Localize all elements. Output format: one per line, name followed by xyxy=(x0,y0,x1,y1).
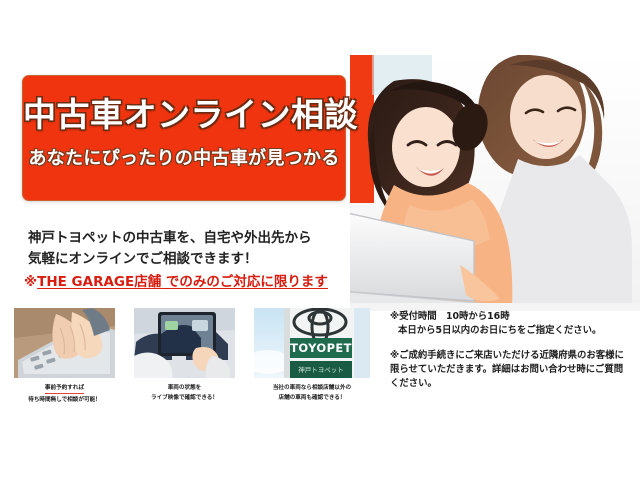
feature-caption-live-video: 車両の状態を ライブ映像で確認できる！ xyxy=(134,384,235,403)
promo-banner: 中古車オンライン相談 あなたにぴったりの中古車が見つかる xyxy=(22,75,346,201)
feature-caption-line2: ライブ映像で確認できる！ xyxy=(134,394,235,403)
promo-page: 中古車オンライン相談 あなたにぴったりの中古車が見つかる 神戸トヨペットの中古車… xyxy=(0,0,640,480)
notice-underlined-text: THE GARAGE店舗 xyxy=(37,274,161,290)
feature-item-reservation: 事前予約すれば 待ち時間無しで相談が可能！ xyxy=(14,308,115,404)
note-line-hours: ※受付時間 10時から16時 xyxy=(390,310,630,324)
feature-caption-line1: 事前予約すれば xyxy=(45,384,84,394)
feature-thumbnail-keyboard xyxy=(14,308,115,378)
feature-caption-line2: 店舗の車両も確認できる！ xyxy=(254,394,370,403)
feature-item-live-video: 車両の状態を ライブ映像で確認できる！ xyxy=(134,308,235,403)
feature-list: 事前予約すれば 待ち時間無しで相談が可能！ xyxy=(0,308,380,410)
note-line-date: 本日から5日以内のお日にちをご指定ください。 xyxy=(390,324,630,338)
notice-mark: ※ xyxy=(24,274,37,290)
feature-thumbnail-tablet xyxy=(134,308,235,378)
banner-subtitle: あなたにぴったりの中古車が見つかる xyxy=(23,144,345,170)
svg-text:神戸トヨペット: 神戸トヨペット xyxy=(298,365,344,374)
tablet-live-view-illustration xyxy=(134,308,235,378)
feature-caption-reservation: 事前予約すれば 待ち時間無しで相談が可能！ xyxy=(14,384,115,404)
lead-paragraph: 神戸トヨペットの中古車を、自宅や外出先から 気軽にオンラインでご相談できます！ xyxy=(28,228,348,270)
svg-text:TOYOPET: TOYOPET xyxy=(290,341,352,355)
toyopet-sign-illustration: TOYOPET 神戸トヨペット xyxy=(254,308,370,378)
notice-rest-text: でのみのご対応に限ります xyxy=(161,274,328,290)
notes-block: ※受付時間 10時から16時 本日から5日以内のお日にちをご指定ください。 ※ご… xyxy=(390,310,630,402)
note-line-area: ※ご成約手続きにご来店いただける近隣府県のお客様に限らせていただきます。詳細はお… xyxy=(390,349,630,391)
feature-caption-line1: 車両の状態を xyxy=(134,384,235,393)
feature-item-other-stores: TOYOPET 神戸トヨペット 当社の車両なら相談店舗以外の 店舗の車両も確認で… xyxy=(254,308,370,403)
lead-line-1: 神戸トヨペットの中古車を、自宅や外出先から xyxy=(28,228,348,249)
garage-restriction-notice: ※THE GARAGE店舗 でのみのご対応に限ります xyxy=(24,270,354,290)
hero-photo xyxy=(350,55,640,311)
keyboard-typing-illustration xyxy=(14,308,115,378)
lead-line-2: 気軽にオンラインでご相談できます！ xyxy=(28,249,348,270)
banner-title: 中古車オンライン相談 xyxy=(23,88,345,136)
hero-photo-illustration xyxy=(350,55,640,311)
feature-caption-line1: 当社の車両なら相談店舗以外の xyxy=(254,384,370,393)
note-contract-area: ※ご成約手続きにご来店いただける近隣府県のお客様に限らせていただきます。詳細はお… xyxy=(390,349,630,391)
feature-thumbnail-toyopet-sign: TOYOPET 神戸トヨペット xyxy=(254,308,370,378)
note-reception-hours: ※受付時間 10時から16時 本日から5日以内のお日にちをご指定ください。 xyxy=(390,310,630,338)
feature-caption-other-stores: 当社の車両なら相談店舗以外の 店舗の車両も確認できる！ xyxy=(254,384,370,403)
feature-caption-line2: 待ち時間無しで相談が可能！ xyxy=(14,396,115,405)
